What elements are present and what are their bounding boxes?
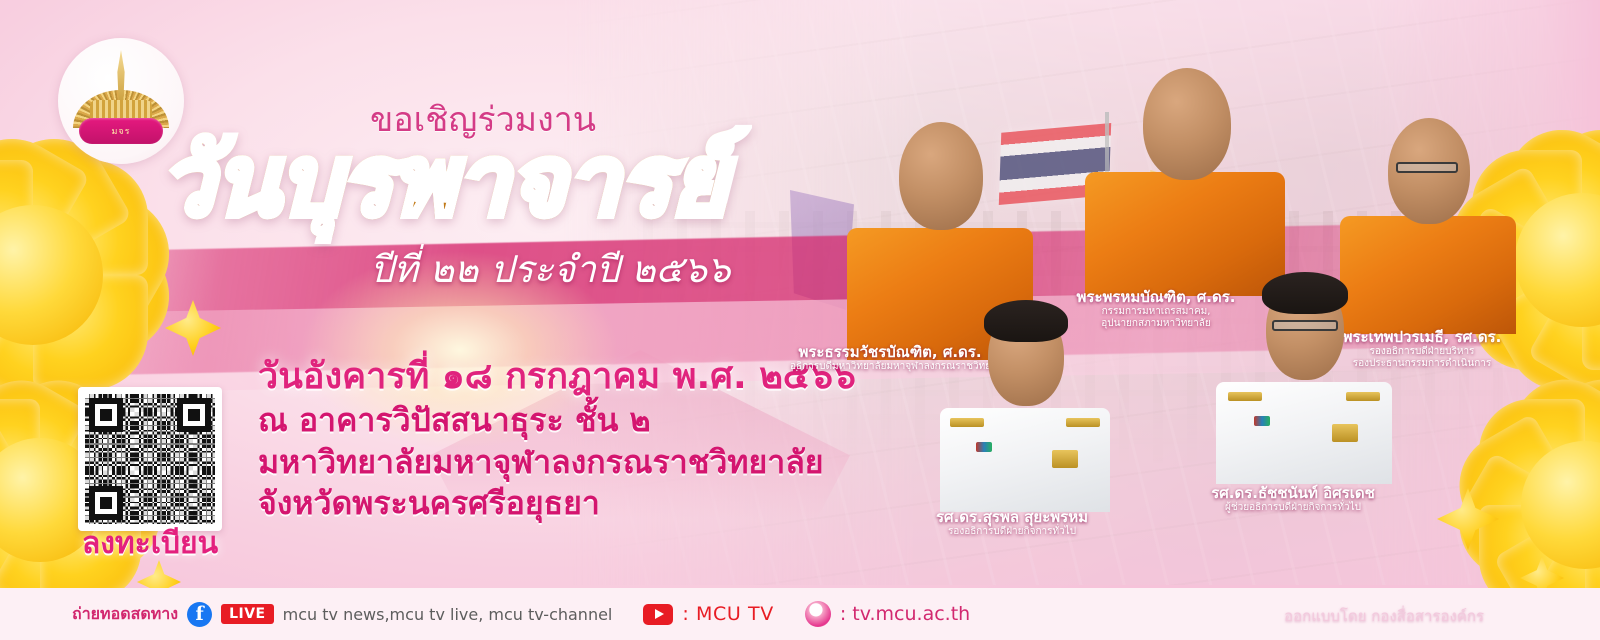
event-banner: มจร ขอเชิญร่วมงาน วันบุรพาจารย์ ปีที่ ๒๒… bbox=[0, 0, 1600, 640]
registration-label: ลงทะเบียน bbox=[60, 520, 240, 567]
monk-head bbox=[1143, 68, 1231, 180]
venue-line-3: จังหวัดพระนครศรีอยุธยา bbox=[258, 483, 824, 525]
hair bbox=[984, 300, 1068, 342]
facebook-channels: mcu tv news,mcu tv live, mcu tv-channel bbox=[283, 605, 613, 624]
qr-finder-top-left bbox=[89, 398, 123, 432]
design-credit: ออกแบบโดย กองสื่อสารองค์กร bbox=[1284, 604, 1484, 628]
uniform-badge bbox=[1052, 450, 1078, 468]
event-date: วันอังคารที่ ๑๘ กรกฎาคม พ.ศ. ๒๕๖๖ bbox=[258, 347, 856, 404]
event-subtitle: ปีที่ ๒๒ ประจำปี ๒๕๖๖ bbox=[370, 240, 730, 299]
live-badge: LIVE bbox=[221, 604, 274, 624]
portrait-thatchanan-isaradej bbox=[1216, 272, 1392, 484]
lotus-petal bbox=[0, 500, 40, 601]
page-title: วันบุรพาจารย์ bbox=[160, 125, 727, 238]
uniform-medal bbox=[976, 442, 992, 452]
facebook-icon[interactable]: f bbox=[187, 602, 212, 627]
venue-line-1: ณ อาคารวิปัสสนาธุระ ชั้น ๒ bbox=[258, 400, 824, 442]
lotus-petal bbox=[0, 399, 40, 500]
person-role: ผู้ช่วยอธิการบดีฝ่ายกิจการทั่วไป bbox=[1188, 502, 1398, 514]
caption-thatchanan-isaradej: รศ.ดร.ธัชชนันท์ อิศรเดช ผู้ช่วยอธิการบดี… bbox=[1188, 484, 1398, 514]
youtube-play-icon[interactable] bbox=[643, 604, 673, 625]
portrait-surapon-suyaprom bbox=[940, 300, 1110, 512]
qr-finder-top-right bbox=[177, 398, 211, 432]
monk-head bbox=[899, 122, 983, 230]
broadcast-info: ถ่ายทอดสดทาง f LIVE mcu tv news,mcu tv l… bbox=[72, 601, 970, 627]
registration-qr-code[interactable] bbox=[78, 387, 222, 531]
hair bbox=[1262, 272, 1348, 314]
uniform-epaulette-right bbox=[1066, 418, 1100, 427]
broadcast-label: ถ่ายทอดสดทาง bbox=[72, 602, 178, 627]
mcu-logo-icon bbox=[805, 601, 831, 627]
event-venue: ณ อาคารวิปัสสนาธุระ ชั้น ๒ มหาวิทยาลัยมห… bbox=[258, 400, 824, 525]
person-name: รศ.ดร.ธัชชนันท์ อิศรเดช bbox=[1188, 484, 1398, 502]
uniform-medal bbox=[1254, 416, 1270, 426]
lotus-petal bbox=[0, 449, 40, 587]
website-link[interactable]: : tv.mcu.ac.th bbox=[840, 603, 970, 625]
uniform-epaulette-left bbox=[1228, 392, 1262, 401]
uniform-epaulette-left bbox=[950, 418, 984, 427]
venue-line-2: มหาวิทยาลัยมหาจุฬาลงกรณราชวิทยาลัย bbox=[258, 442, 824, 484]
eyeglasses-icon bbox=[1396, 162, 1458, 173]
lotus-petal bbox=[0, 412, 40, 550]
person-role: รองอธิการบดีฝ่ายกิจการทั่วไป bbox=[912, 526, 1112, 538]
portrait-phra-phrommabandit bbox=[1085, 68, 1285, 296]
eyeglasses-icon bbox=[1272, 320, 1338, 331]
emblem-ribbon-label: มจร bbox=[79, 118, 163, 144]
uniform-epaulette-right bbox=[1346, 392, 1380, 401]
qr-finder-bottom-left bbox=[89, 486, 123, 520]
youtube-channel[interactable]: : MCU TV bbox=[682, 603, 773, 625]
uniform-badge bbox=[1332, 424, 1358, 442]
person-name: รศ.ดร.สุรพล สุยะพรหม bbox=[912, 508, 1112, 526]
caption-surapon-suyaprom: รศ.ดร.สุรพล สุยะพรหม รองอธิการบดีฝ่ายกิจ… bbox=[912, 508, 1112, 538]
